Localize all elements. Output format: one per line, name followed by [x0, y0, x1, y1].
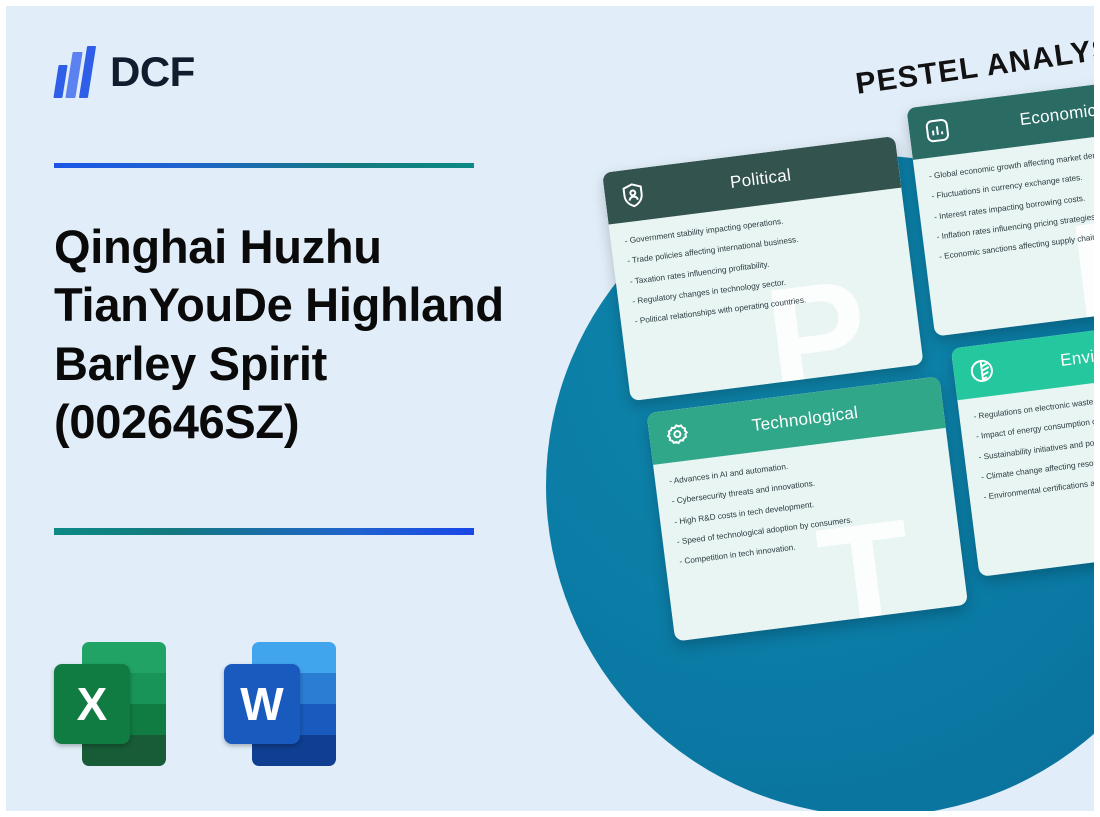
card-body-technological: T Advances in AI and automation. Cyberse… [653, 428, 968, 642]
excel-icon-letter: X [54, 664, 130, 744]
pestel-card-economical[interactable]: Economical E Global economic growth affe… [906, 71, 1100, 336]
shield-person-icon [616, 178, 650, 212]
divider-top [54, 163, 474, 168]
word-icon-letter: W [224, 664, 300, 744]
brand-name: DCF [110, 51, 195, 93]
card-list-environment: Regulations on electronic waste disposal… [973, 379, 1100, 503]
bar-chart-logo-icon [54, 46, 96, 98]
divider-bottom [54, 528, 474, 535]
leaf-icon [965, 354, 999, 388]
card-list-technological: Advances in AI and automation. Cybersecu… [669, 444, 945, 568]
pestel-analysis-cover: DCF Qinghai Huzhu TianYouDe Highland Bar… [0, 0, 1100, 817]
pestel-card-grid: Political P Government stability impacti… [602, 93, 1100, 640]
pestel-card-environment[interactable]: Environment E Regulations on electronic … [951, 312, 1100, 577]
page-title: Qinghai Huzhu TianYouDe Highland Barley … [54, 218, 524, 451]
pestel-card-technological[interactable]: Technological T Advances in AI and autom… [647, 376, 969, 641]
word-file-icon[interactable]: W [224, 642, 336, 766]
download-buttons: X W [54, 642, 336, 766]
bar-chart-icon [921, 114, 955, 148]
excel-file-icon[interactable]: X [54, 642, 166, 766]
pestel-graphic: PESTEL ANALYSIS Political P Government s… [511, 6, 1100, 817]
brand-logo[interactable]: DCF [54, 46, 195, 98]
left-panel: DCF Qinghai Huzhu TianYouDe Highland Bar… [6, 6, 546, 817]
card-list-economical: Global economic growth affecting market … [929, 139, 1100, 263]
card-list-political: Government stability impacting operation… [624, 203, 900, 327]
card-body-political: P Government stability impacting operati… [609, 188, 924, 402]
pestel-card-political[interactable]: Political P Government stability impacti… [602, 136, 924, 401]
gear-icon [661, 419, 695, 453]
